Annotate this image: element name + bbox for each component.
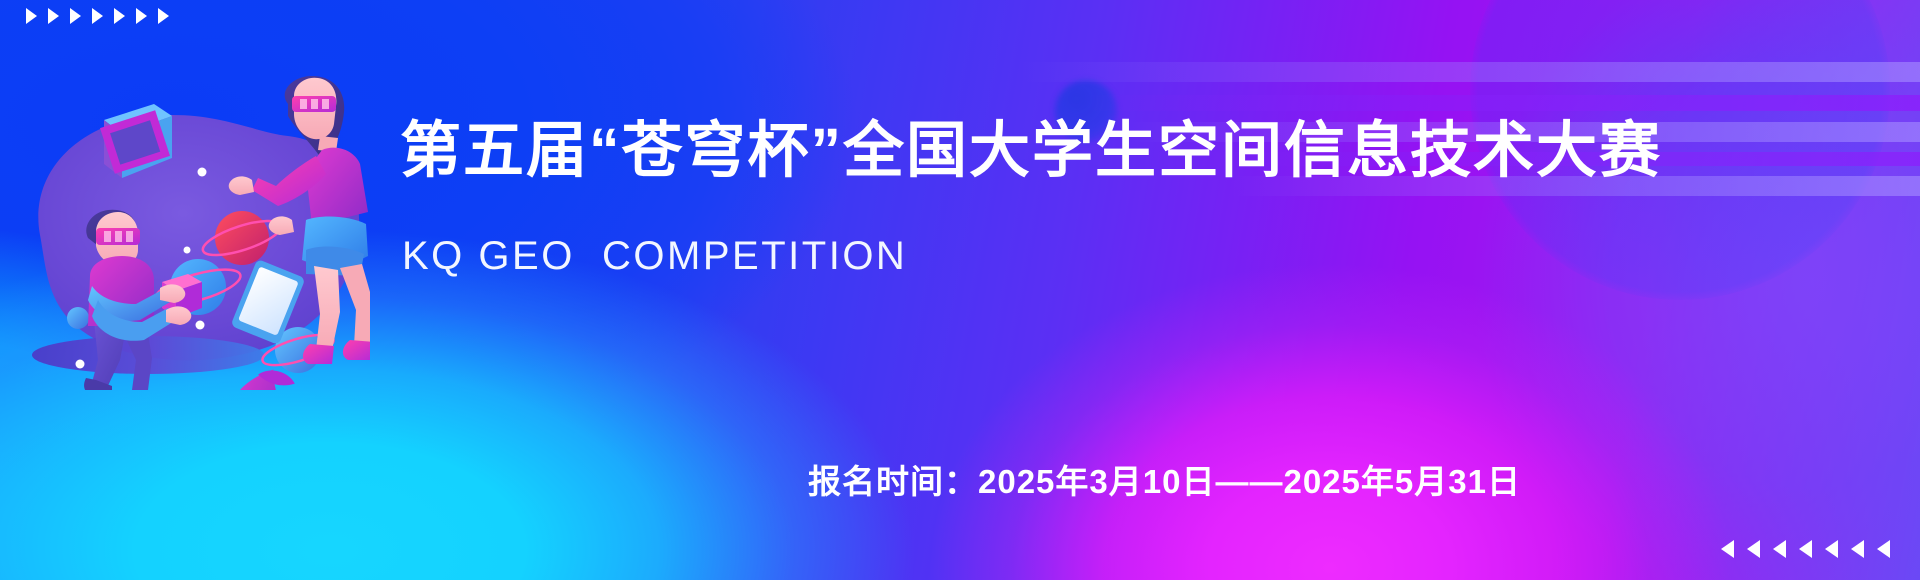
- star-dot: [198, 168, 207, 177]
- arrow-left-icon: [1721, 540, 1734, 558]
- stripe-1: [1020, 62, 1920, 82]
- arrow-right-icon: [114, 8, 125, 24]
- top-left-arrow-decoration: [26, 8, 169, 24]
- arrow-right-icon: [92, 8, 103, 24]
- arrow-left-icon: [1877, 540, 1890, 558]
- arrow-left-icon: [1851, 540, 1864, 558]
- arrow-right-icon: [26, 8, 37, 24]
- arrow-right-icon: [136, 8, 147, 24]
- arrow-left-icon: [1799, 540, 1812, 558]
- shoe-icon: [343, 340, 370, 360]
- competition-banner: 第五届“苍穹杯”全国大学生空间信息技术大赛 KQ GEO COMPETITION…: [0, 0, 1920, 580]
- arrow-left-icon: [1747, 540, 1760, 558]
- star-dot: [76, 360, 85, 369]
- vr-students-space-illustration: [20, 60, 370, 390]
- arrow-left-icon: [1825, 540, 1838, 558]
- star-dot: [196, 321, 205, 330]
- bottom-right-arrow-decoration: [1721, 540, 1890, 558]
- star-dot: [184, 247, 191, 254]
- banner-title-en: KQ GEO COMPETITION: [402, 236, 1900, 276]
- arrow-right-icon: [158, 8, 169, 24]
- shoe-icon: [303, 344, 334, 364]
- stripe-2: [1090, 95, 1920, 111]
- arrow-right-icon: [48, 8, 59, 24]
- banner-text-block: 第五届“苍穹杯”全国大学生空间信息技术大赛 KQ GEO COMPETITION: [400, 118, 1900, 276]
- arrow-right-icon: [70, 8, 81, 24]
- planet-small-blue: [67, 307, 89, 329]
- arrow-left-icon: [1773, 540, 1786, 558]
- banner-title-cn: 第五届“苍穹杯”全国大学生空间信息技术大赛: [400, 118, 1900, 184]
- registration-period-text: 报名时间：2025年3月10日——2025年5月31日: [808, 455, 1521, 503]
